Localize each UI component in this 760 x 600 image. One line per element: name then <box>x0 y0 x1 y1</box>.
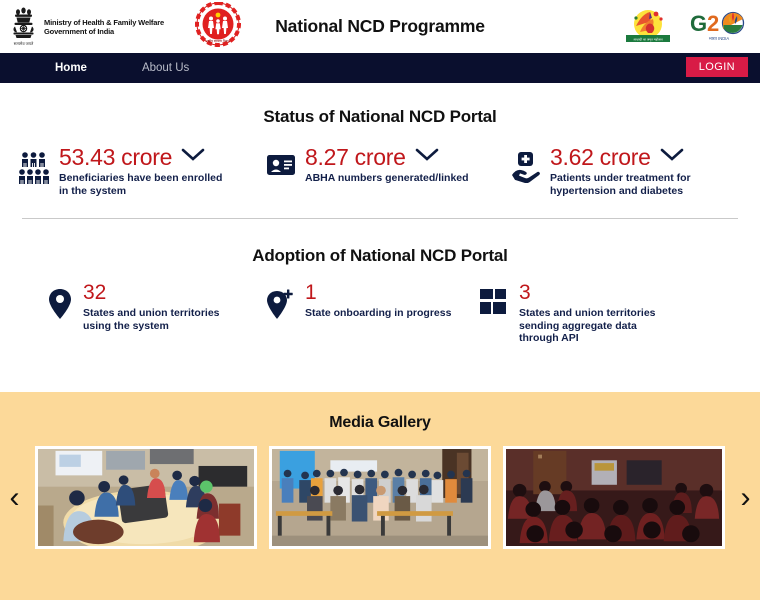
svg-text:भारत INDIA: भारत INDIA <box>709 36 730 41</box>
nav-item-about-us[interactable]: About Us <box>142 62 189 74</box>
stat-body: 8.27 crore ABHA numbers generated/linked <box>305 143 469 185</box>
chevron-down-icon[interactable] <box>415 148 439 167</box>
svg-text:राष्ट्रीय स्वास्थ्य मिशन: राष्ट्रीय स्वास्थ्य मिशन <box>206 39 229 43</box>
azadi-ka-amrit-mahotsav-logo-icon: आज़ादी का अमृत महोत्सव <box>620 6 676 51</box>
partner-logos: आज़ादी का अमृत महोत्सव G 2 भारत INDIA <box>620 6 750 51</box>
adoption-body: 32 States and union territories using th… <box>83 282 243 332</box>
stat-description: Beneficiaries have been enrolled in the … <box>59 172 234 197</box>
stat-unit: crore <box>355 144 406 170</box>
stat-number: 3.62 <box>550 144 594 170</box>
ministry-name: Ministry of Health & Family Welfare Gove… <box>44 18 164 36</box>
id-card-icon <box>266 143 296 186</box>
stat-card-beneficiaries[interactable]: 53.43 crore Beneficiaries have been enro… <box>18 143 266 197</box>
g20-logo-icon: G 2 भारत INDIA <box>688 7 750 50</box>
stat-description: ABHA numbers generated/linked <box>305 172 469 185</box>
stat-value-line: 8.27 crore <box>305 144 469 170</box>
stat-number: 8.27 <box>305 144 349 170</box>
stat-unit: crore <box>600 144 651 170</box>
adoption-description: States and union territories using the s… <box>83 307 243 332</box>
chevron-down-icon[interactable] <box>181 148 205 167</box>
ministry-branding: सत्यमेव जयते Ministry of Health & Family… <box>10 6 164 48</box>
stat-value: 8.27 crore <box>305 144 406 170</box>
stat-card-abha[interactable]: 8.27 crore ABHA numbers generated/linked <box>266 143 511 197</box>
site-header: सत्यमेव जयते Ministry of Health & Family… <box>0 0 760 53</box>
hand-holding-medical-icon <box>511 143 541 188</box>
map-pin-icon <box>48 282 72 325</box>
adoption-card-api: 3 States and union territories sending a… <box>480 282 742 345</box>
status-stats-row: 53.43 crore Beneficiaries have been enro… <box>0 143 760 197</box>
adoption-body: 1 State onboarding in progress <box>305 282 451 320</box>
adoption-card-states-using: 32 States and union territories using th… <box>18 282 266 345</box>
adoption-card-onboarding: 1 State onboarding in progress <box>266 282 480 345</box>
adoption-value: 32 <box>83 282 243 304</box>
stat-number: 53.43 <box>59 144 115 170</box>
adoption-section-title: Adoption of National NCD Portal <box>0 246 760 266</box>
adoption-value: 1 <box>305 282 451 304</box>
svg-text:आज़ादी का अमृत महोत्सव: आज़ादी का अमृत महोत्सव <box>633 38 663 42</box>
gallery-slide-1[interactable] <box>35 446 257 549</box>
adoption-body: 3 States and union territories sending a… <box>519 282 679 345</box>
nav-item-home[interactable]: Home <box>55 62 87 74</box>
gallery-title: Media Gallery <box>0 392 760 432</box>
map-pin-plus-icon <box>266 282 294 325</box>
stat-value: 3.62 crore <box>550 144 651 170</box>
india-state-emblem-icon: सत्यमेव जयते <box>10 6 37 48</box>
audience-seated-in-auditorium-image <box>506 449 722 546</box>
stat-body: 53.43 crore Beneficiaries have been enro… <box>59 143 234 197</box>
ministry-line-1: Ministry of Health & Family Welfare <box>44 18 164 27</box>
people-group-icon <box>18 143 50 190</box>
grid-blocks-icon <box>480 282 508 321</box>
meeting-around-conference-table-image <box>38 449 254 546</box>
emblem-motto: सत्यमेव जयते <box>14 41 34 46</box>
svg-text:2: 2 <box>707 11 719 36</box>
adoption-value: 3 <box>519 282 679 304</box>
stat-unit: crore <box>121 144 172 170</box>
chevron-down-icon[interactable] <box>660 148 684 167</box>
adoption-description: State onboarding in progress <box>305 307 451 320</box>
stat-body: 3.62 crore Patients under treatment for … <box>550 143 725 197</box>
main-navigation: Home About Us LOGIN <box>0 53 760 83</box>
media-gallery-section: Media Gallery ‹ <box>0 392 760 600</box>
group-photo-in-hall-image <box>272 449 488 546</box>
adoption-description: States and union territories sending agg… <box>519 307 679 345</box>
adoption-section: Adoption of National NCD Portal 32 State… <box>0 219 760 345</box>
login-button[interactable]: LOGIN <box>686 57 748 77</box>
stat-value-line: 53.43 crore <box>59 144 234 170</box>
gallery-slide-2[interactable] <box>269 446 491 549</box>
carousel-prev-button[interactable]: ‹ <box>6 483 23 513</box>
stat-value-line: 3.62 crore <box>550 144 725 170</box>
status-section-title: Status of National NCD Portal <box>0 107 760 127</box>
stat-description: Patients under treatment for hypertensio… <box>550 172 725 197</box>
carousel-next-button[interactable]: › <box>737 483 754 513</box>
gallery-slide-3[interactable] <box>503 446 725 549</box>
svg-text:G: G <box>690 11 707 36</box>
gallery-carousel: ‹ <box>0 446 760 549</box>
adoption-items-row: 32 States and union territories using th… <box>0 282 760 345</box>
stat-value: 53.43 crore <box>59 144 172 170</box>
national-health-mission-logo-icon: राष्ट्रीय स्वास्थ्य मिशन <box>192 2 244 52</box>
stat-card-patients[interactable]: 3.62 crore Patients under treatment for … <box>511 143 742 197</box>
nav-links: Home About Us <box>55 62 189 74</box>
status-section: Status of National NCD Portal <box>0 83 760 197</box>
ministry-line-2: Government of India <box>44 27 164 36</box>
